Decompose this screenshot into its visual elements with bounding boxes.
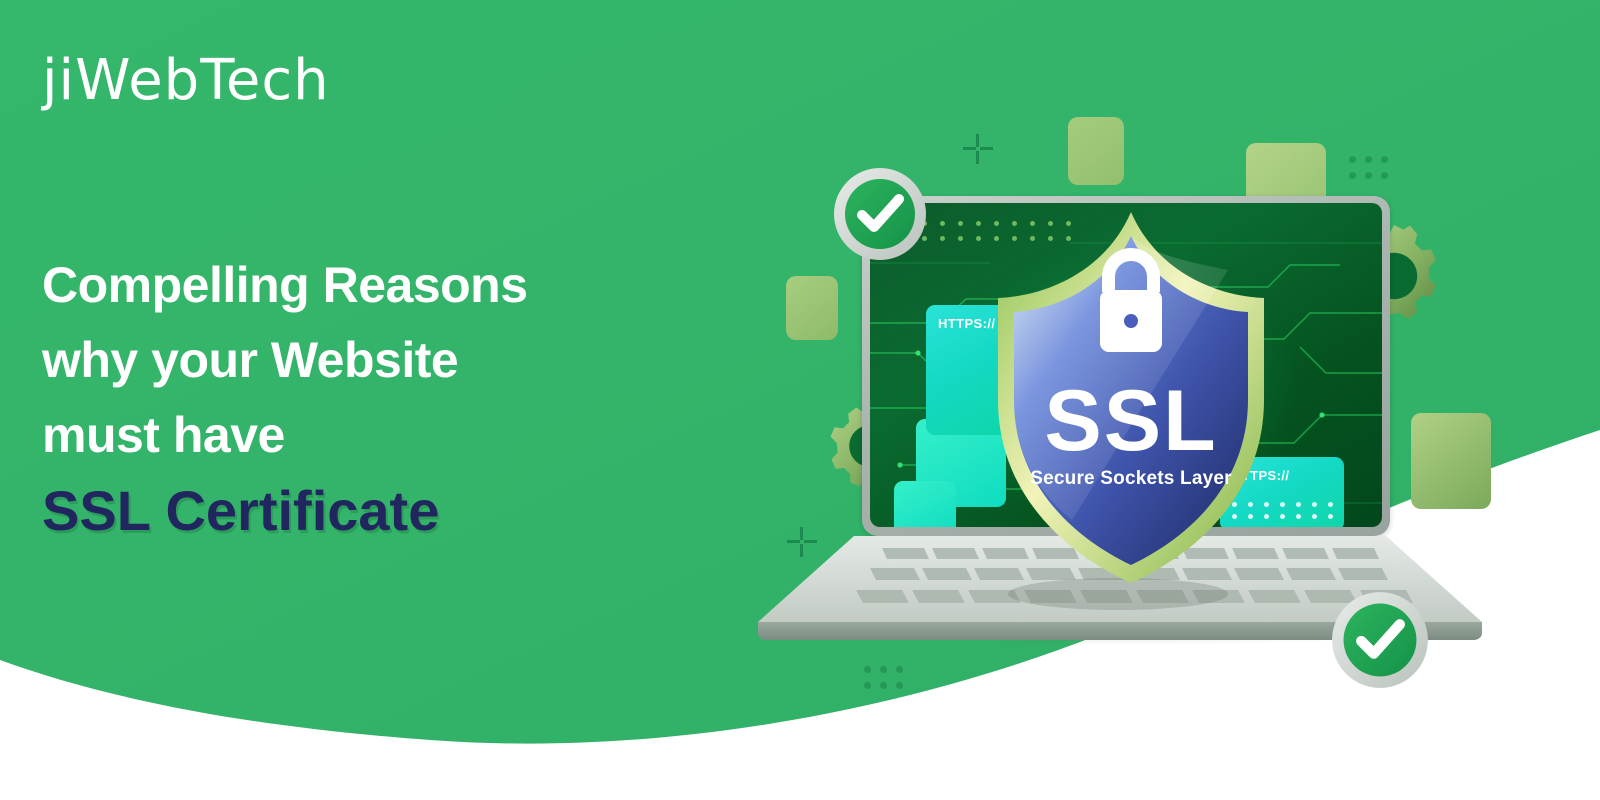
- verified-check-bottom-right: [1330, 590, 1430, 690]
- ssl-shield: [988, 210, 1274, 585]
- headline-line-1: Compelling Reasons: [42, 248, 682, 323]
- decor-rect-4: [1411, 413, 1491, 509]
- headline-block: Compelling Reasons why your Website must…: [42, 248, 682, 548]
- brand-logo[interactable]: jiWebTech: [42, 48, 330, 113]
- ssl-promo-banner: jiWebTech Compelling Reasons why your We…: [0, 0, 1600, 800]
- decor-dot-grid-bottom: [864, 666, 903, 689]
- headline-line-3: must have: [42, 398, 682, 473]
- headline-line-4-accent: SSL Certificate: [42, 473, 682, 548]
- logo-text-ji: ji: [42, 48, 75, 113]
- logo-text-webtech: WebTech: [75, 48, 330, 113]
- teal-chip-left-small: [894, 481, 956, 527]
- headline-line-2: why your Website: [42, 323, 682, 398]
- verified-check-top-left: [832, 166, 928, 262]
- https-card-top-label: HTTPS://: [938, 316, 995, 331]
